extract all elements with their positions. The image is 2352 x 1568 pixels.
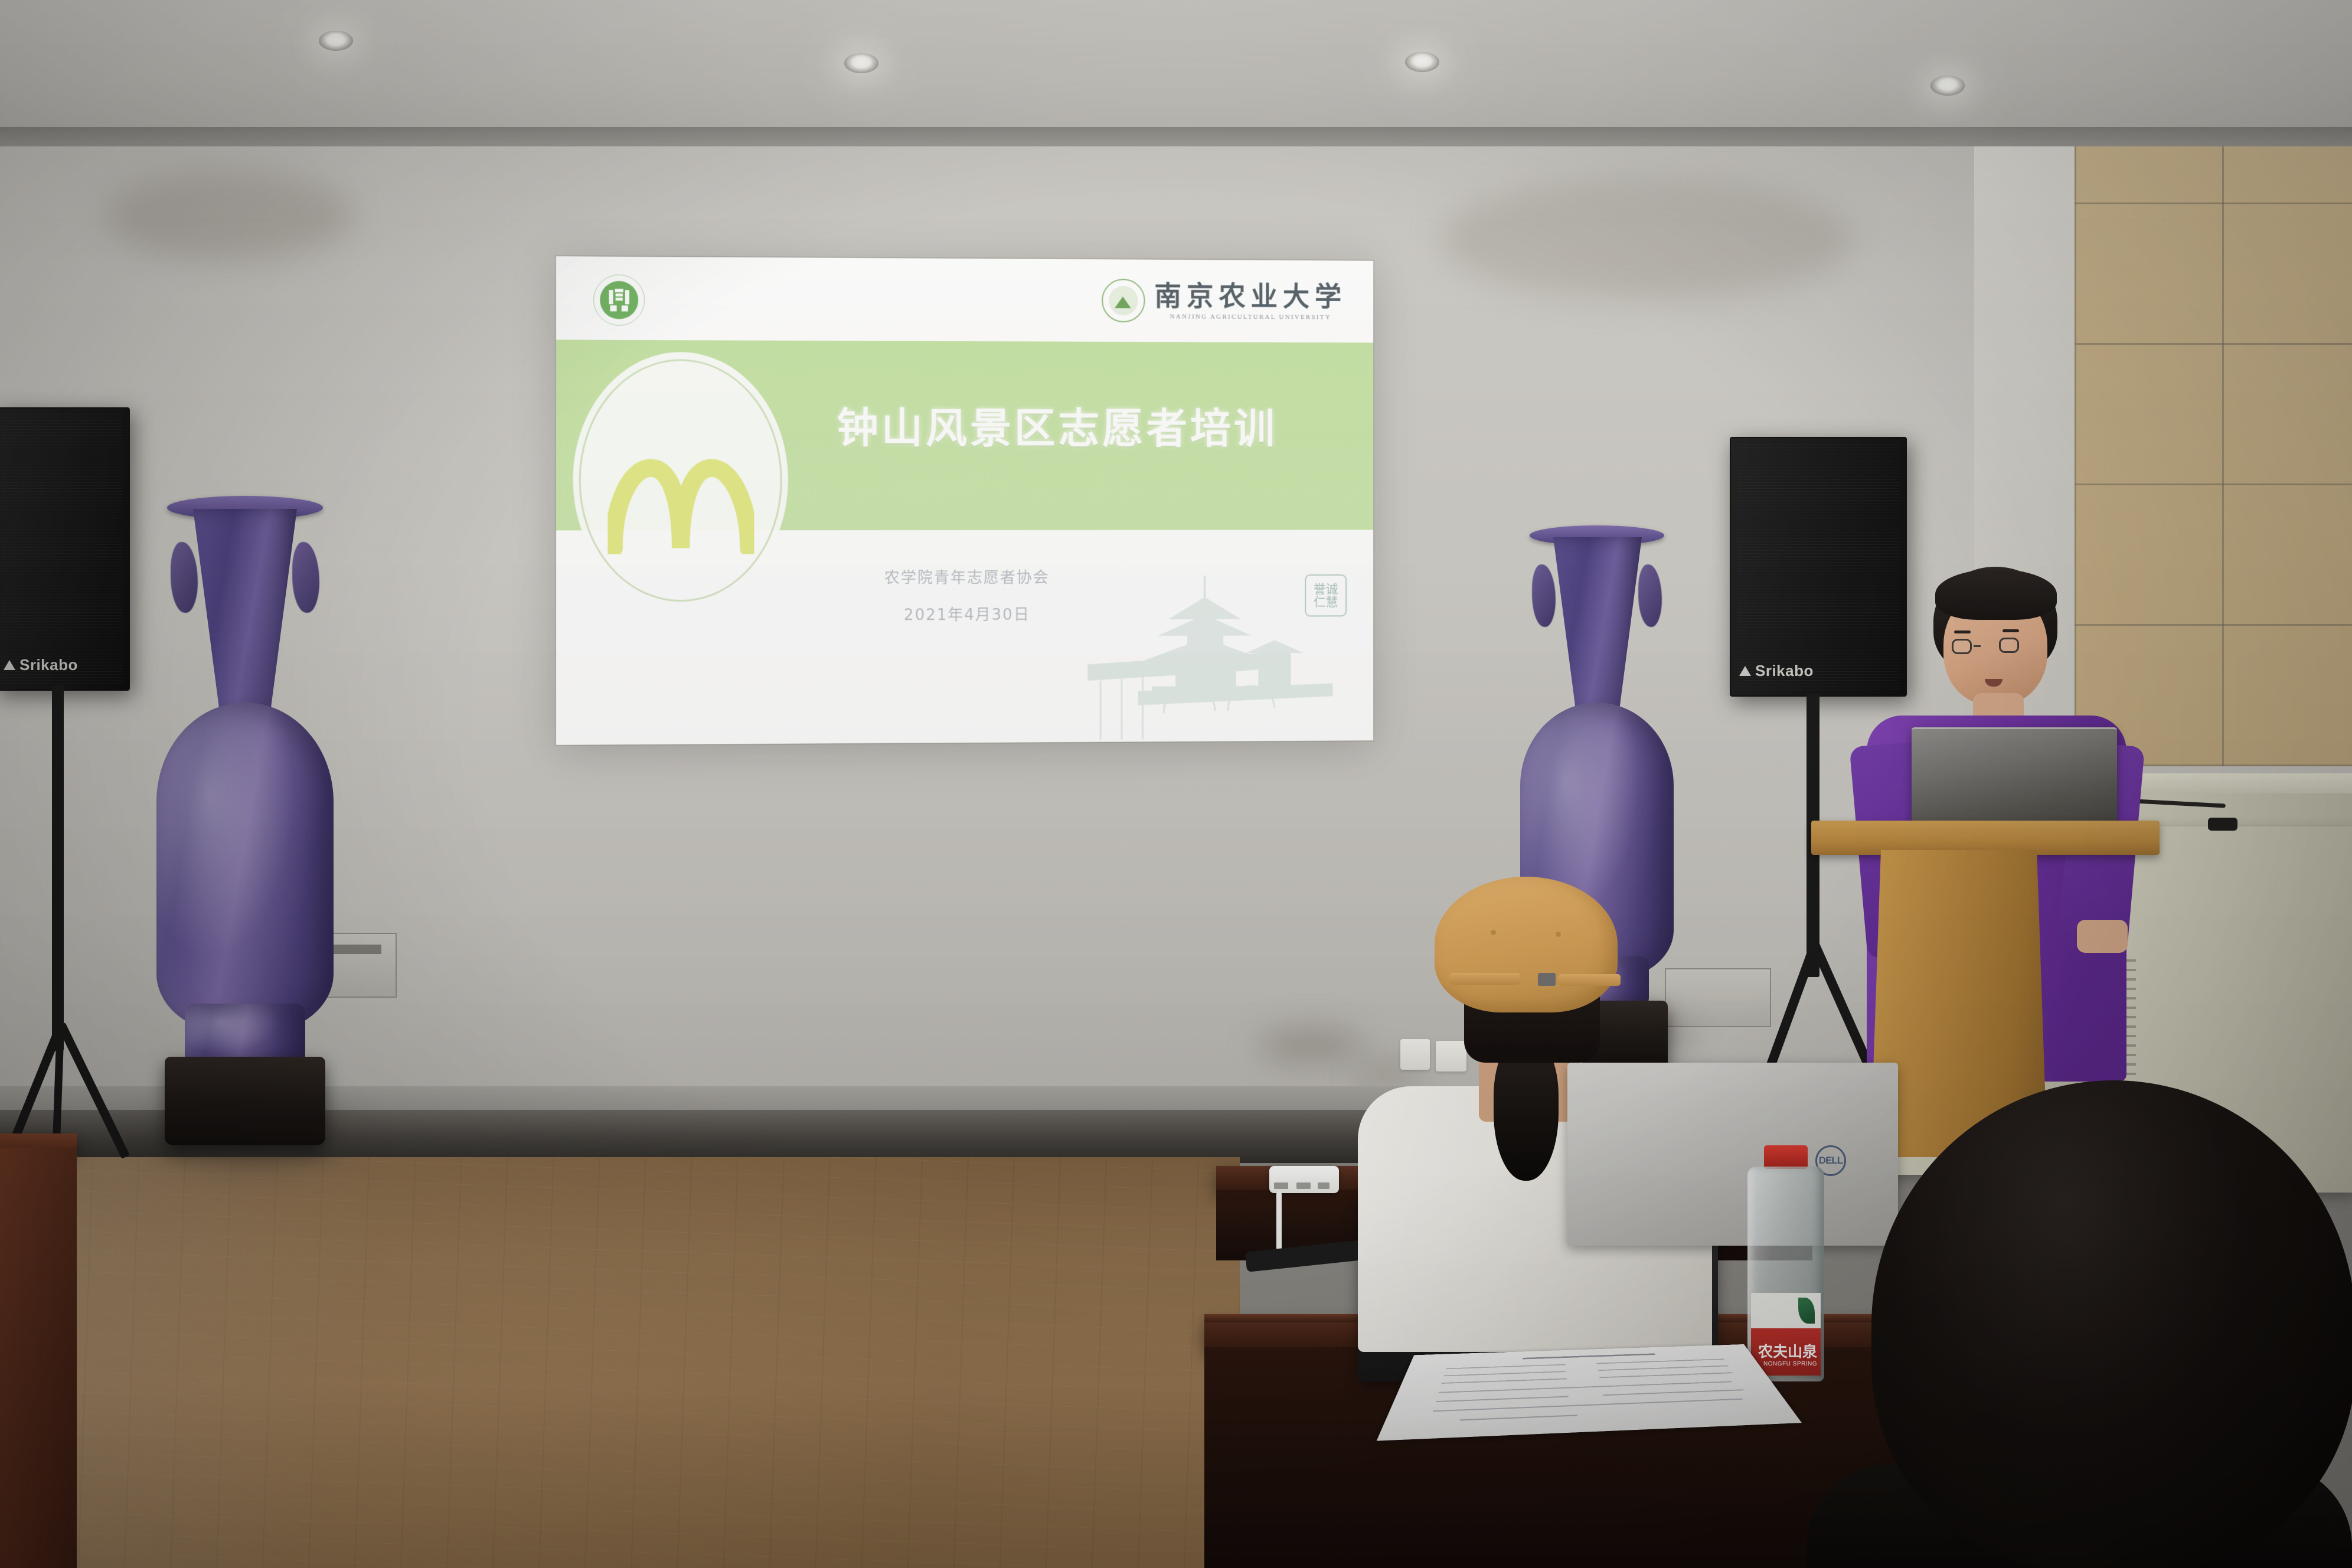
- university-logo: 南京农业大学 NANJING AGRICULTURAL UNIVERSITY: [1102, 272, 1347, 329]
- left-speaker: Srikabo: [0, 407, 130, 691]
- left-speaker-brand: Srikabo: [4, 656, 78, 674]
- university-seal-icon: [1102, 279, 1145, 322]
- right-vase-handle-left: [1532, 564, 1556, 627]
- left-speaker-stand-pole: [52, 685, 64, 1051]
- audience-baseball-cap: [1435, 877, 1618, 1012]
- paper-text-line: [1446, 1364, 1566, 1370]
- wall-stain-1: [106, 171, 354, 260]
- slide-title: 钟山风景区志愿者培训: [837, 395, 1278, 455]
- power-strip-socket-1: [1296, 1182, 1311, 1189]
- college-emblem-logo: [593, 275, 645, 326]
- left-speaker-grill: [1, 414, 123, 684]
- university-wordmark: 南京农业大学 NANJING AGRICULTURAL UNIVERSITY: [1154, 282, 1347, 321]
- right-vase-neck: [1553, 537, 1642, 714]
- ceiling-downlight-1: [319, 31, 353, 51]
- wall-outlet-socket[interactable]: [1436, 1041, 1466, 1072]
- presenter-glasses-bridge: [1974, 645, 1981, 647]
- podium-top-surface: [1811, 821, 2160, 855]
- audience-cap-buckle: [1538, 973, 1556, 986]
- left-vase-handle-left: [171, 542, 198, 613]
- audience-cap-eyelet-1: [1491, 930, 1496, 935]
- left-vase: [156, 496, 334, 1181]
- paper-text-line: [1443, 1371, 1566, 1376]
- floor-reflection: [0, 1157, 1240, 1568]
- bottle-cap: [1764, 1145, 1808, 1169]
- power-strip-socket-2: [1318, 1182, 1329, 1189]
- left-vase-body: [156, 703, 334, 1033]
- paper-text-line: [1599, 1372, 1733, 1378]
- power-strip[interactable]: [1269, 1166, 1339, 1193]
- ceiling: [0, 0, 2352, 148]
- presenter-glasses-left-lens: [1952, 639, 1972, 654]
- power-strip-usb-port: [1274, 1182, 1288, 1189]
- paper-text-line: [1441, 1378, 1567, 1384]
- audience-cap-strap-left: [1449, 973, 1520, 985]
- speaker-brand-triangle-icon: [4, 660, 15, 670]
- ceiling-downlight-2: [844, 53, 878, 73]
- audience-cap-strap-right: [1559, 974, 1621, 986]
- watermark-wave-glyph: [607, 435, 754, 554]
- paper-text-line: [1603, 1389, 1745, 1396]
- presenter-laptop[interactable]: [1912, 727, 2117, 831]
- lecture-room-photo: 南京农业大学 NANJING AGRICULTURAL UNIVERSITY 钟…: [0, 0, 2352, 1568]
- slide-organization: 农学院青年志愿者协会: [843, 566, 1091, 588]
- projection-screen: 南京农业大学 NANJING AGRICULTURAL UNIVERSITY 钟…: [556, 256, 1373, 745]
- university-name-cn: 南京农业大学: [1154, 282, 1347, 309]
- presenter-hand-right: [2077, 920, 2128, 953]
- side-desk-front: [0, 1148, 77, 1568]
- wall-outlet-switch[interactable]: [1400, 1039, 1430, 1070]
- bottle-brand-cn: 农夫山泉: [1758, 1345, 1817, 1360]
- left-vase-neck: [193, 509, 297, 716]
- presenter-hair-fringe: [1935, 569, 2057, 620]
- speaker-brand-triangle-icon-2: [1739, 666, 1751, 676]
- slide-subtitle-block: 农学院青年志愿者协会 2021年4月30日: [843, 566, 1091, 625]
- foreground-person-head: [1871, 1080, 2352, 1568]
- presenter-glasses-right-lens: [1999, 638, 2019, 653]
- cabinet-cable-plug: [2208, 818, 2237, 831]
- audience-cap-eyelet-2: [1556, 932, 1561, 937]
- left-vase-stand: [165, 1057, 325, 1145]
- right-vase-handle-right: [1638, 564, 1662, 627]
- audience-laptop[interactable]: DELL: [1567, 1063, 1898, 1246]
- university-name-en: NANJING AGRICULTURAL UNIVERSITY: [1170, 313, 1331, 321]
- bottle-brand-en: NONGFU SPRING: [1763, 1361, 1817, 1367]
- ceiling-downlight-3: [1405, 52, 1439, 72]
- water-bottle[interactable]: 农夫山泉 NONGFU SPRING: [1747, 1145, 1824, 1381]
- emblem-glyph-icon: [607, 288, 631, 313]
- paper-text-line: [1459, 1415, 1577, 1420]
- paper-text-line: [1596, 1358, 1724, 1364]
- ceiling-downlight-4: [1930, 76, 1965, 96]
- wall-stain-2: [1440, 177, 1854, 301]
- presenter-brow-left: [1954, 631, 1971, 633]
- right-speaker-brand: Srikabo: [1739, 662, 1814, 680]
- paper-text-line: [1598, 1366, 1729, 1371]
- slide-date: 2021年4月30日: [843, 603, 1091, 625]
- presentation-slide: 南京农业大学 NANJING AGRICULTURAL UNIVERSITY 钟…: [556, 256, 1373, 745]
- presenter-brow-right: [2003, 629, 2019, 632]
- wall-stain-4: [1257, 1027, 1364, 1063]
- paper-heading-line: [1523, 1353, 1655, 1359]
- left-vase-handle-right: [292, 542, 319, 613]
- seal-stamp: 誉诚仁慧: [1305, 574, 1347, 617]
- paper-text-line: [1436, 1396, 1569, 1403]
